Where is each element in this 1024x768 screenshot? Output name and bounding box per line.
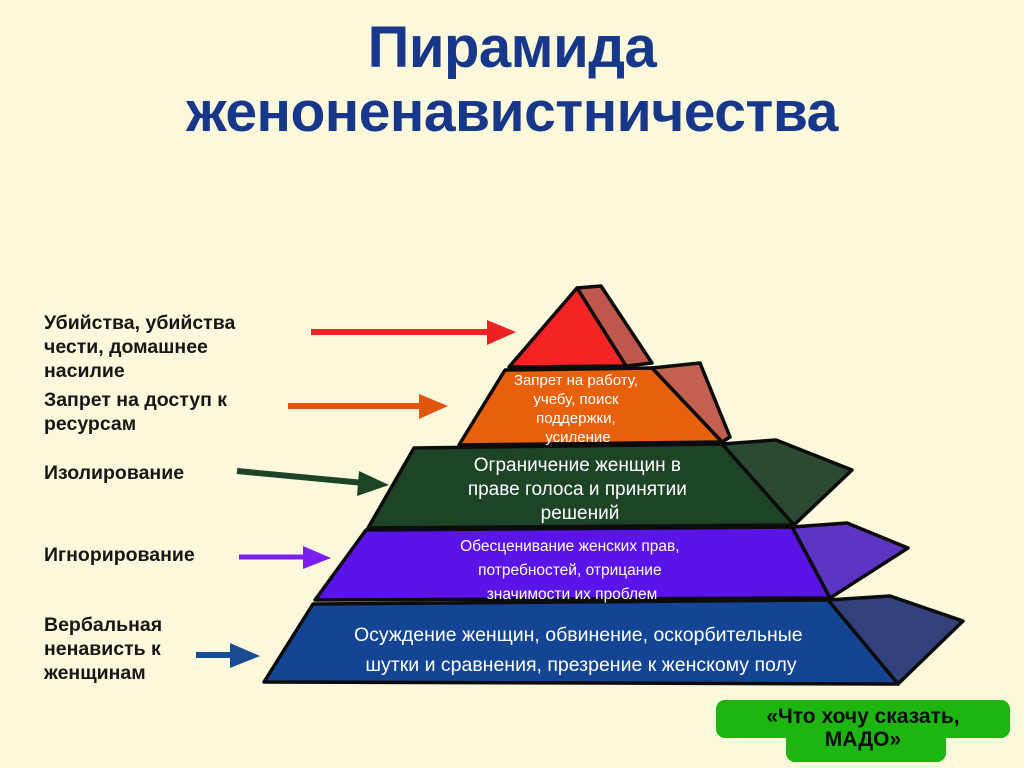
- pyramid-tier-red-apex[interactable]: [509, 286, 652, 367]
- pyramid-tier-blue[interactable]: Осуждение женщин, обвинение, оскорбитель…: [264, 596, 963, 684]
- tier3-line-2: праве голоса и принятии: [468, 479, 687, 500]
- arrow-purple: [239, 546, 331, 569]
- arrow-orange: [288, 394, 448, 419]
- pyramid-diagram: Осуждение женщин, обвинение, оскорбитель…: [0, 0, 1024, 768]
- banner-text: «Что хочу сказать, МАДО»: [716, 700, 1010, 751]
- arrow-green: [237, 471, 389, 496]
- tier5-line-1: Осуждение женщин, обвинение, оскорбитель…: [354, 624, 803, 646]
- arrow-red: [311, 320, 516, 345]
- tier2-line-2: учебу, поиск: [533, 391, 618, 408]
- slide-canvas: Пирамида женоненавистничества Убийства, …: [0, 0, 1024, 768]
- pyramid-tier-purple[interactable]: Обесценивание женских прав, потребностей…: [315, 523, 908, 603]
- tier4-line-3: значимости их проблем: [487, 586, 658, 603]
- tier2-line-4: усиление: [545, 429, 610, 446]
- tier5-line-2: шутки и сравнения, презрение к женскому …: [365, 654, 796, 676]
- tier3-line-3: решений: [541, 503, 620, 524]
- tier4-line-1: Обесценивание женских прав,: [460, 538, 679, 555]
- bottom-banner[interactable]: «Что хочу сказать, МАДО»: [716, 700, 1010, 762]
- pyramid-tier-orange[interactable]: Запрет на работу, учебу, поиск поддержки…: [459, 363, 730, 446]
- tier2-line-1: Запрет на работу,: [514, 372, 638, 389]
- arrow-blue: [196, 643, 260, 668]
- pyramid-tier-green[interactable]: Ограничение женщин в праве голоса и прин…: [368, 440, 852, 528]
- tier3-line-1: Ограничение женщин в: [474, 455, 681, 476]
- pyramid-tier-purple-text: Обесценивание женских прав, потребностей…: [460, 538, 684, 603]
- tier4-line-2: потребностей, отрицание: [478, 562, 661, 579]
- tier2-line-3: поддержки,: [536, 410, 615, 427]
